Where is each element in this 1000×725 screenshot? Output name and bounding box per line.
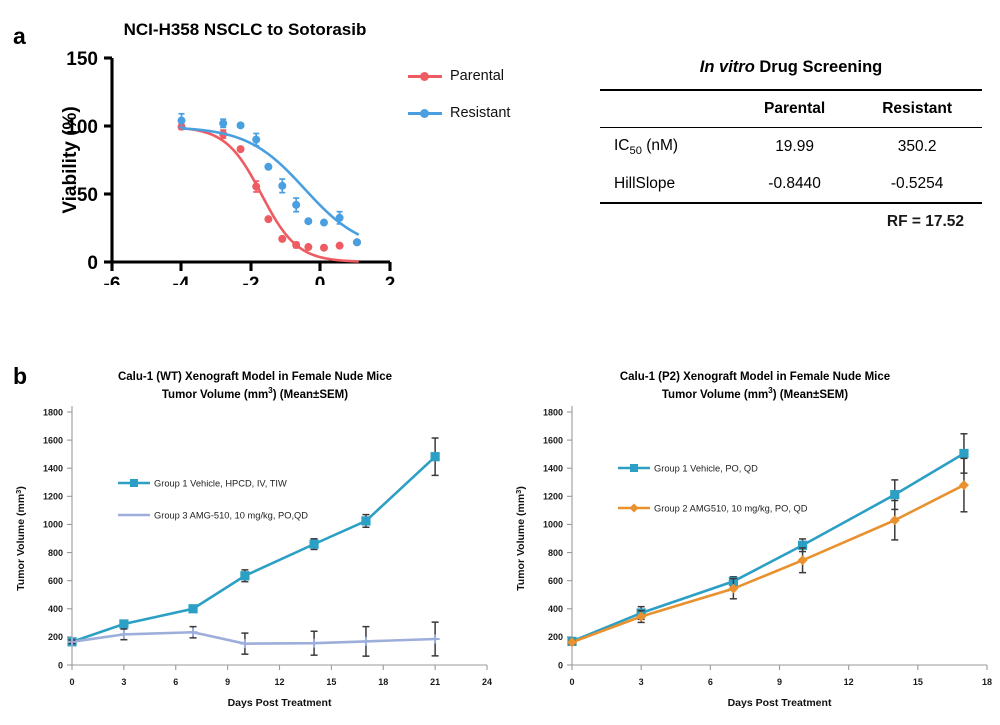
legend-swatch-marker (630, 464, 638, 472)
dose-point-parental (320, 244, 328, 252)
x-axis-title: Days Post Treatment (228, 697, 332, 709)
data-marker (798, 555, 808, 565)
parental-marker-icon (408, 70, 442, 82)
dose-point-parental (264, 215, 272, 223)
x-tick-label: 3 (121, 677, 126, 687)
dose-point-resistant (336, 214, 344, 222)
data-marker (890, 515, 900, 525)
y-tick-label: 0 (58, 660, 63, 670)
dose-response-title: NCI-H358 NSCLC to Sotorasib (70, 20, 420, 40)
table-col-blank (600, 90, 737, 128)
table-cell-ic50-resistant: 350.2 (852, 128, 982, 167)
data-marker (959, 480, 969, 490)
dose-curve-parental (182, 128, 359, 261)
x-tick-label: 6 (173, 677, 178, 687)
dose-ytick-0: 0 (87, 253, 98, 274)
y-tick-label: 1200 (543, 492, 563, 502)
x-tick-label: 9 (225, 677, 230, 687)
x-tick-label: 9 (777, 677, 782, 687)
svg-text:Tumor Volume (mm3): Tumor Volume (mm3) (14, 486, 27, 591)
data-marker (361, 516, 370, 525)
figure-root: a b NCI-H358 NSCLC to Sotorasib (0, 0, 1000, 725)
y-tick-label: 200 (548, 632, 563, 642)
table-rowlabel-hillslope: HillSlope (600, 166, 737, 203)
dose-point-resistant (264, 163, 272, 171)
y-axis-title: Tumor Volume (mm3) (14, 486, 27, 591)
axes: 0200400600800100012001400160018000369121… (43, 406, 492, 687)
dose-xtick-m6: -6 (104, 274, 121, 285)
legend-label: Group 2 AMG510, 10 mg/kg, PO, QD (654, 503, 808, 513)
y-tick-label: 400 (548, 604, 563, 614)
resistant-marker-icon (408, 107, 442, 119)
table-col-resistant: Resistant (852, 90, 982, 128)
x-tick-label: 0 (569, 677, 574, 687)
calu1-wt-chart-panel: Calu-1 (WT) Xenograft Model in Female Nu… (0, 360, 500, 725)
data-marker (240, 571, 249, 580)
legend-label-resistant: Resistant (450, 105, 510, 121)
dose-point-resistant (252, 136, 260, 144)
legend-label: Group 3 AMG-510, 10 mg/kg, PO,QD (154, 510, 308, 520)
x-tick-label: 21 (430, 677, 440, 687)
y-tick-label: 1400 (543, 464, 563, 474)
dose-response-panel: NCI-H358 NSCLC to Sotorasib 150 100 (0, 0, 560, 330)
x-tick-label: 24 (482, 677, 492, 687)
series-square (67, 438, 439, 646)
x-tick-label: 15 (913, 677, 923, 687)
table-bottom-rule (600, 203, 982, 204)
calu1-p2-chart-panel: Calu-1 (P2) Xenograft Model in Female Nu… (500, 360, 1000, 725)
y-tick-label: 1800 (543, 407, 563, 417)
dose-xtick-2: 2 (385, 274, 396, 285)
dose-axes (104, 58, 390, 271)
table-cell-hillslope-parental: -0.8440 (737, 166, 852, 203)
y-tick-label: 200 (48, 632, 63, 642)
y-axis-title: Tumor Volume (mm3) (514, 486, 527, 591)
legend-swatch-marker (630, 504, 639, 513)
dose-point-resistant (219, 119, 227, 127)
table-row: HillSlope -0.8440 -0.5254 (600, 166, 982, 203)
y-tick-label: 600 (48, 576, 63, 586)
calu1-p2-plot: 0200400600800100012001400160018000369121… (500, 360, 1000, 725)
data-marker (431, 452, 440, 461)
series-line (572, 453, 964, 641)
y-tick-label: 1600 (43, 435, 63, 445)
table-col-parental: Parental (737, 90, 852, 128)
legend-label-parental: Parental (450, 68, 504, 84)
y-tick-label: 1800 (43, 407, 63, 417)
table-title: In vitro Drug Screening (600, 58, 982, 77)
svg-text:Tumor Volume (mm3): Tumor Volume (mm3) (514, 486, 527, 591)
x-axis-title: Days Post Treatment (728, 697, 832, 709)
axes: 0200400600800100012001400160018000369121… (543, 406, 992, 687)
dose-point-resistant (304, 217, 312, 225)
legend-item-parental: Parental (408, 68, 510, 84)
x-tick-label: 3 (639, 677, 644, 687)
resistance-factor-note: RF = 17.52 (600, 213, 982, 231)
y-tick-label: 0 (558, 660, 563, 670)
x-tick-label: 6 (708, 677, 713, 687)
y-tick-label: 800 (548, 548, 563, 558)
data-marker (959, 449, 968, 458)
dose-point-resistant (278, 182, 286, 190)
dose-point-resistant (320, 219, 328, 227)
x-tick-label: 18 (982, 677, 992, 687)
y-tick-label: 1600 (543, 435, 563, 445)
y-tick-label: 1400 (43, 464, 63, 474)
legend-item-resistant: Resistant (408, 105, 510, 121)
x-tick-label: 12 (274, 677, 284, 687)
drug-screening-table-panel: In vitro Drug Screening Parental Resista… (600, 58, 982, 231)
chart-legend: Group 1 Vehicle, HPCD, IV, TIWGroup 3 AM… (118, 478, 308, 520)
calu1-wt-plot: 0200400600800100012001400160018000369121… (0, 360, 500, 725)
table-rowlabel-ic50: IC50 (nM) (600, 128, 737, 167)
table-cell-ic50-parental: 19.99 (737, 128, 852, 167)
dose-point-resistant (292, 201, 300, 209)
data-marker (309, 540, 318, 549)
data-marker (890, 490, 899, 499)
dose-point-parental (292, 241, 300, 249)
dose-point-parental (237, 145, 245, 153)
dose-response-plot: 150 100 50 0 -6 -4 -2 0 2 Log µM Viabili… (60, 50, 410, 285)
dose-point-parental (336, 242, 344, 250)
table-title-rest: Drug Screening (755, 58, 882, 76)
table-cell-hillslope-resistant: -0.5254 (852, 166, 982, 203)
y-tick-label: 600 (548, 576, 563, 586)
legend-swatch-marker (130, 479, 138, 487)
x-tick-label: 12 (844, 677, 854, 687)
series-square (567, 434, 968, 646)
legend-label: Group 1 Vehicle, PO, QD (654, 463, 758, 473)
dose-xtick-m4: -4 (173, 274, 190, 285)
dose-point-resistant (353, 238, 361, 246)
x-tick-label: 18 (378, 677, 388, 687)
dose-point-parental (278, 235, 286, 243)
y-tick-label: 1000 (43, 520, 63, 530)
dose-point-parental (252, 183, 260, 191)
dose-point-resistant (237, 121, 245, 129)
y-tick-label: 1200 (43, 492, 63, 502)
dose-xtick-0: 0 (315, 274, 326, 285)
dose-response-legend: Parental Resistant (408, 68, 510, 121)
data-marker (188, 604, 197, 613)
chart-legend: Group 1 Vehicle, PO, QDGroup 2 AMG510, 1… (618, 463, 808, 513)
drug-screening-table: Parental Resistant IC50 (nM) 19.99 350.2… (600, 89, 982, 204)
dose-response-series (178, 114, 361, 262)
data-marker (119, 619, 128, 628)
dose-xtick-m2: -2 (243, 274, 260, 285)
y-tick-label: 800 (48, 548, 63, 558)
dose-point-parental (304, 243, 312, 251)
dose-ytick-150: 150 (66, 50, 98, 70)
x-tick-label: 15 (326, 677, 336, 687)
table-title-italic: In vitro (700, 58, 755, 76)
dose-yaxis-title: Viability (%) (60, 106, 81, 213)
table-row: IC50 (nM) 19.99 350.2 (600, 128, 982, 167)
y-tick-label: 1000 (543, 520, 563, 530)
table-header-row: Parental Resistant (600, 90, 982, 128)
x-tick-label: 0 (69, 677, 74, 687)
y-tick-label: 400 (48, 604, 63, 614)
legend-label: Group 1 Vehicle, HPCD, IV, TIW (154, 478, 287, 488)
dose-point-resistant (178, 117, 186, 125)
